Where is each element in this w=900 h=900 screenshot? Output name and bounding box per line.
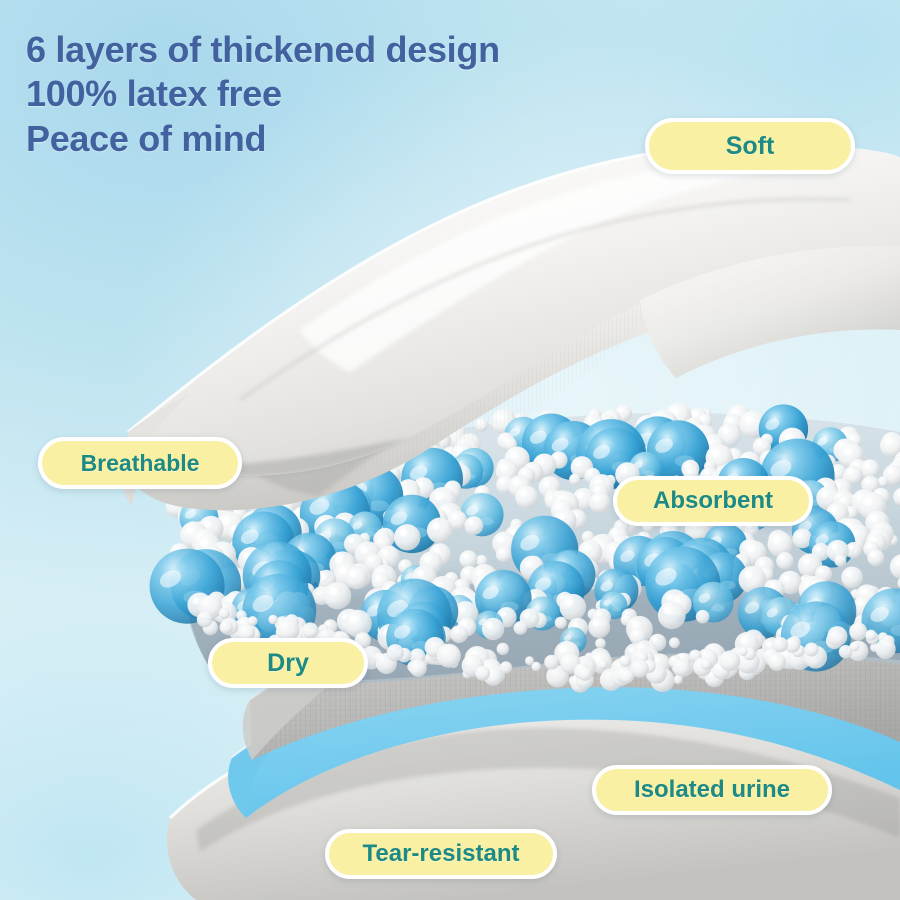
headline-block: 6 layers of thickened design 100% latex … [26, 28, 500, 161]
feature-badge-soft[interactable]: Soft [645, 118, 855, 174]
feature-badge-isolated-urine[interactable]: Isolated urine [592, 765, 832, 815]
headline-line-2: 100% latex free [26, 72, 500, 116]
headline-line-3: Peace of mind [26, 117, 500, 161]
feature-badge-absorbent[interactable]: Absorbent [613, 476, 813, 526]
feature-badge-dry[interactable]: Dry [208, 638, 368, 688]
infographic-canvas: 6 layers of thickened design 100% latex … [0, 0, 900, 900]
feature-badge-breathable[interactable]: Breathable [38, 437, 242, 489]
headline-line-1: 6 layers of thickened design [26, 28, 500, 72]
feature-badge-tear-resistant[interactable]: Tear-resistant [325, 829, 557, 879]
